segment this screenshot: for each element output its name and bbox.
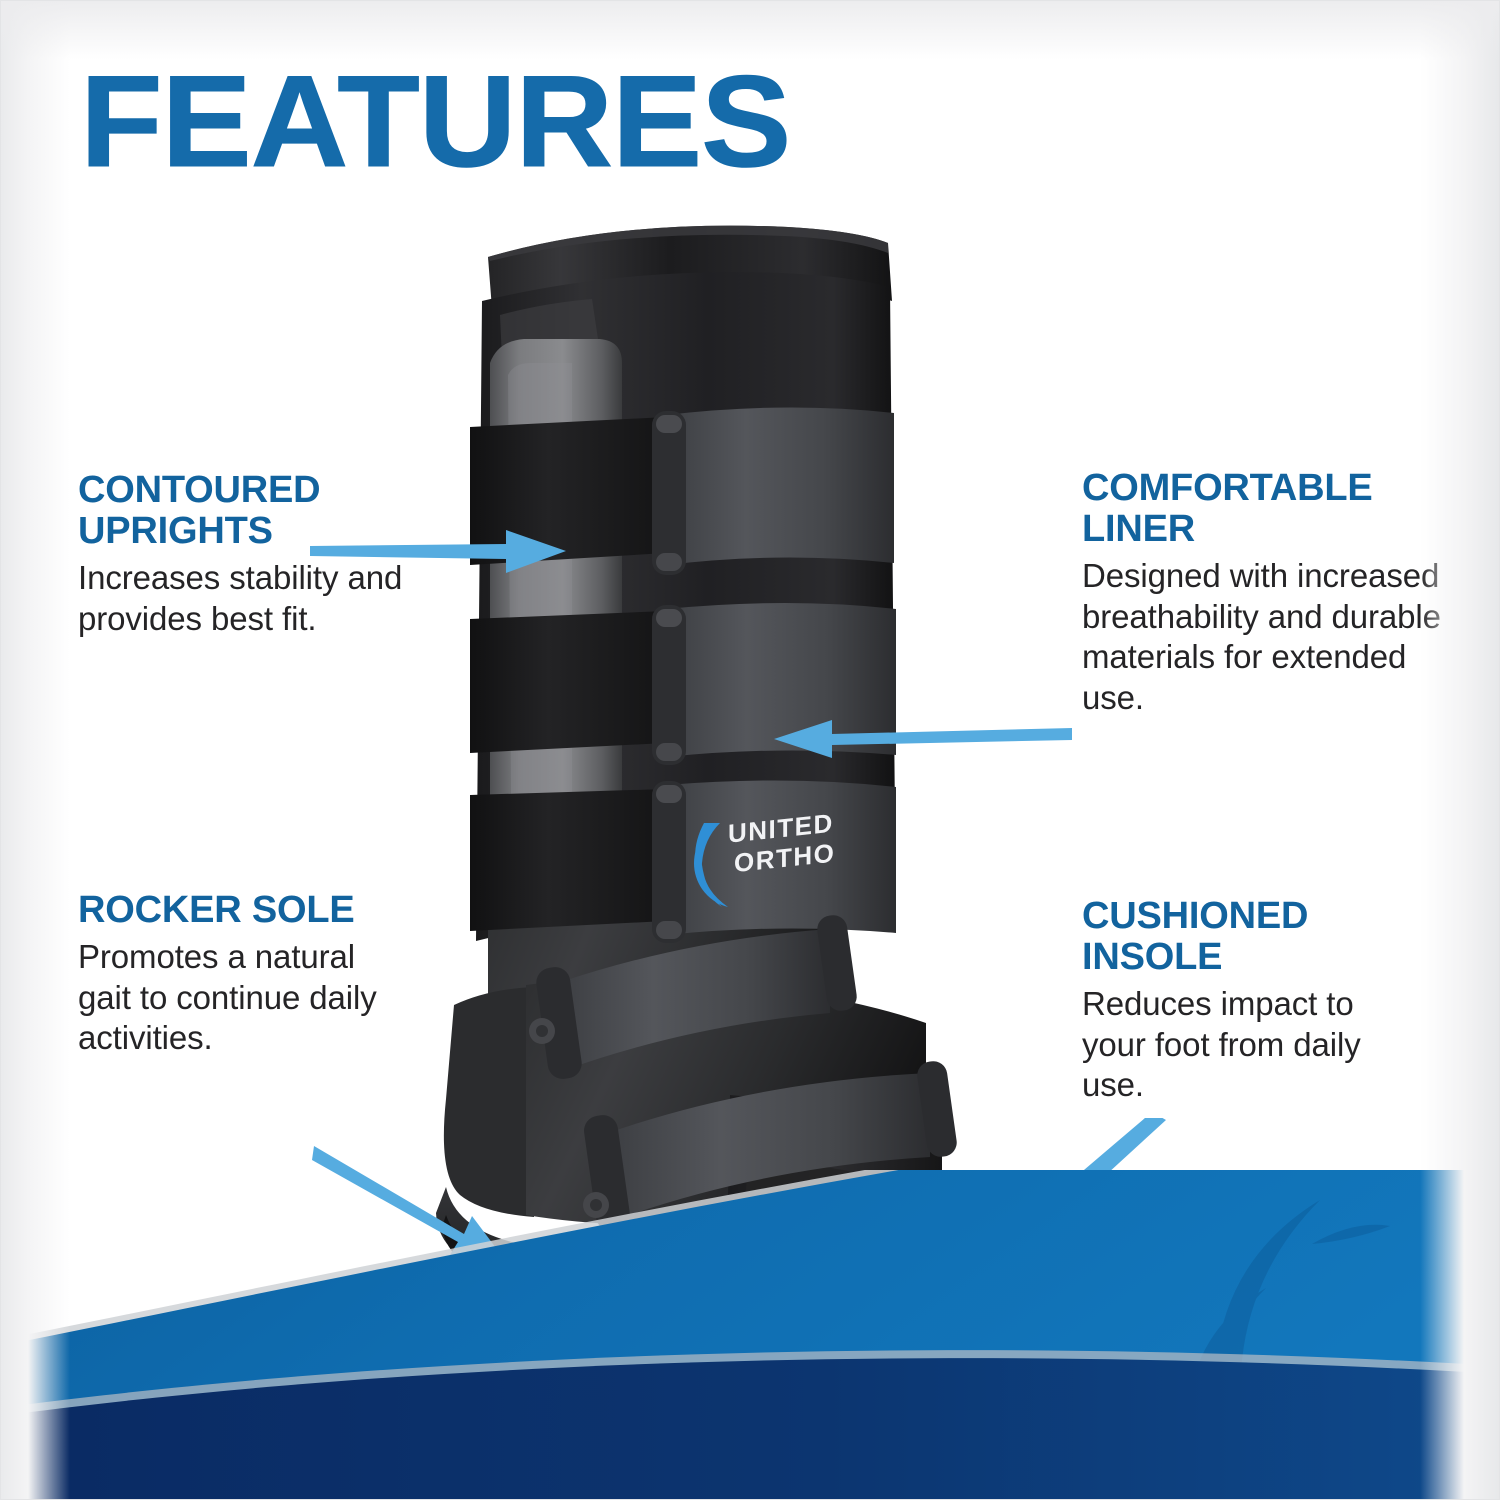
feature-body: Reduces impact to your foot from daily u… [1082, 984, 1422, 1106]
feature-comfortable-liner: COMFORTABLE LINER Designed with increase… [1082, 468, 1472, 718]
arrow-right-icon-contoured-uprights [310, 528, 570, 576]
feature-rocker-sole: ROCKER SOLE Promotes a natural gait to c… [78, 890, 378, 1059]
infographic-canvas: UNITED ORTHO FEATURES CONTOURED UPRIGHTS… [0, 0, 1500, 1500]
feature-heading: COMFORTABLE LINER [1082, 468, 1472, 550]
footer-wave-decoration [0, 1170, 1500, 1500]
feature-heading: CUSHIONED INSOLE [1082, 896, 1422, 978]
feature-cushioned-insole: CUSHIONED INSOLE Reduces impact to your … [1082, 896, 1422, 1106]
feature-body: Promotes a natural gait to continue dail… [78, 937, 378, 1059]
arrow-left-icon-comfortable-liner [770, 712, 1072, 760]
page-title: FEATURES [80, 56, 790, 186]
feature-body: Designed with increased breathability an… [1082, 556, 1472, 718]
feature-heading: ROCKER SOLE [78, 890, 378, 931]
